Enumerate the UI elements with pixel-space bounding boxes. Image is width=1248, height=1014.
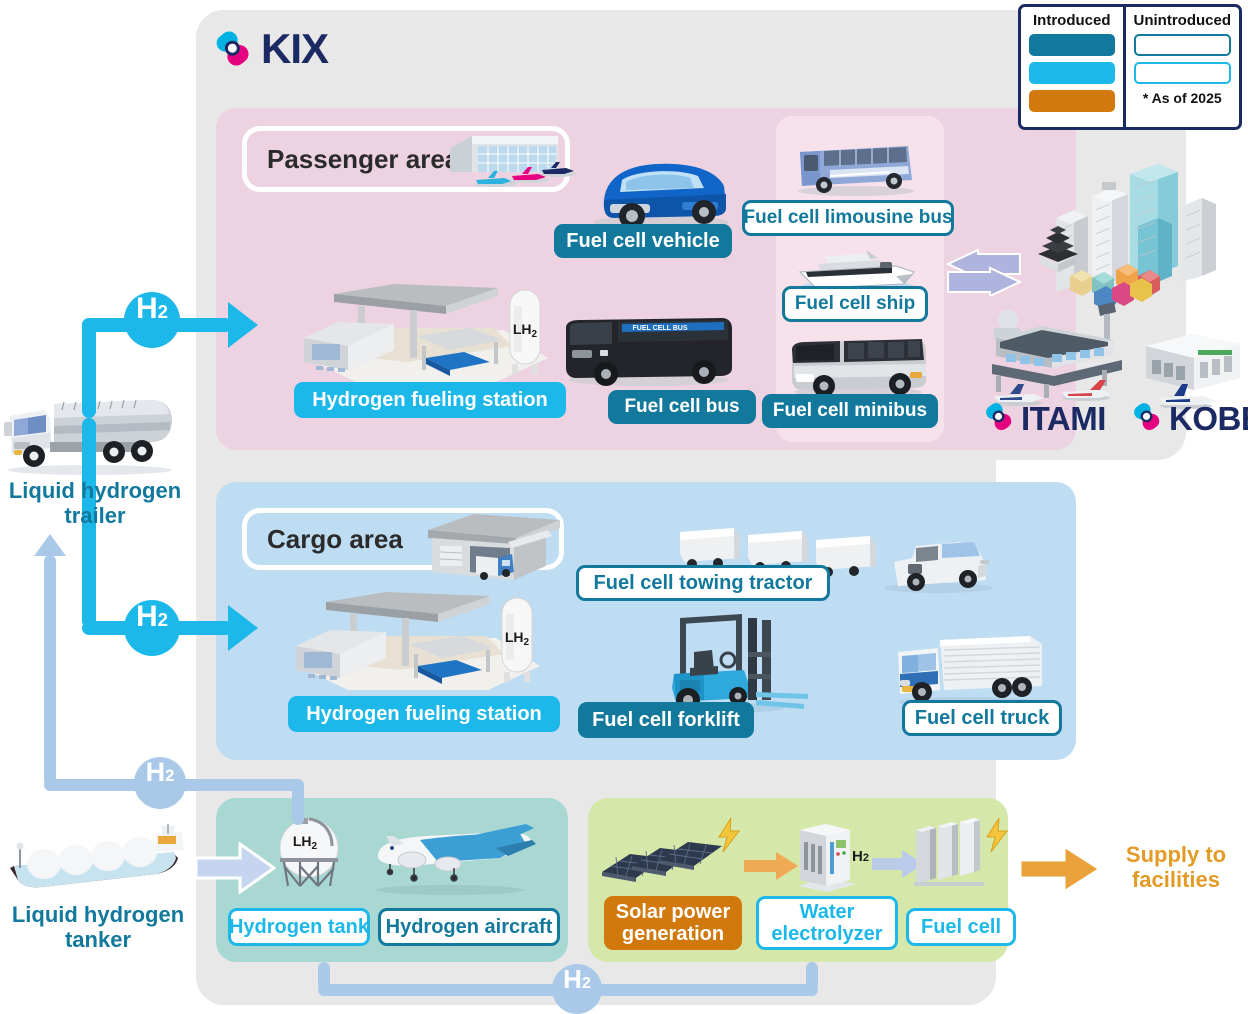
legend-introduced-column: Introduced — [1021, 7, 1126, 127]
label-fuel-cell-ship[interactable]: Fuel cell ship — [782, 286, 928, 322]
h2-badge-aviation: H2 — [134, 757, 186, 809]
label-fuel-cell-bus[interactable]: Fuel cell bus — [608, 390, 756, 424]
kobe-capsule-icon — [1132, 401, 1162, 438]
label-fuel-cell-minibus[interactable]: Fuel cell minibus — [762, 394, 938, 428]
liquid-hydrogen-trailer-line2: trailer — [0, 503, 190, 528]
kix-wordmark: KIX — [261, 28, 328, 70]
label-hydrogen-tank-text: Hydrogen tank — [229, 916, 369, 938]
kix-logo: KIX — [196, 10, 404, 88]
label-hydrogen-fueling-station-passenger-text: Hydrogen fueling station — [312, 389, 548, 411]
label-hydrogen-fueling-station-passenger[interactable]: Hydrogen fueling station — [294, 382, 566, 418]
infographic-root: KIX Introduced Unintroduced * As of 2025… — [0, 0, 1248, 1010]
hydrogen-tank-icon: LH2 — [272, 816, 346, 892]
solar-panel-icon — [600, 840, 730, 892]
kobe-airport-icon — [1140, 326, 1248, 410]
cargo-warehouse-icon — [410, 510, 570, 582]
water-electrolyzer-icon — [790, 820, 860, 892]
fuel-cell-minibus-icon — [784, 330, 930, 400]
tanker-supply-arrow — [196, 840, 276, 896]
kix-to-airports-arrow — [944, 248, 1024, 296]
h2-badge-cargo-sub: 2 — [158, 609, 168, 631]
itami-wordmark: ITAMI — [1021, 400, 1106, 438]
hydrogen-fueling-station-passenger-icon: LH2 — [298, 284, 548, 388]
label-fuel-cell-limousine-bus-text: Fuel cell limousine bus — [743, 208, 952, 229]
liquid-hydrogen-tanker-label: Liquid hydrogen tanker — [0, 902, 196, 953]
liquid-hydrogen-tanker-line1: Liquid hydrogen — [0, 902, 196, 927]
label-fuel-cell-bus-text: Fuel cell bus — [624, 397, 739, 418]
label-fuel-cell-limousine-bus[interactable]: Fuel cell limousine bus — [742, 200, 954, 236]
h2-badge-aviation-text: H — [146, 757, 166, 788]
h2-badge-passenger: H2 — [124, 292, 180, 348]
h2-badge-cargo: H2 — [124, 600, 180, 656]
kix-capsule-icon — [214, 29, 252, 69]
h2-badge-aviation-sub: 2 — [165, 766, 174, 786]
city-skyline-icon — [1026, 158, 1226, 308]
label-water-electrolyzer[interactable]: Water electrolyzer — [756, 896, 898, 950]
supply-to-facilities-arrow — [1020, 842, 1102, 896]
label-fuel-cell-forklift[interactable]: Fuel cell forklift — [578, 702, 754, 738]
h2-badge-bottom-text: H — [563, 964, 582, 995]
label-fuel-cell-vehicle-text: Fuel cell vehicle — [566, 230, 719, 252]
label-fuel-cell-minibus-text: Fuel cell minibus — [773, 401, 927, 422]
label-fuel-cell-text: Fuel cell — [921, 916, 1001, 938]
h2-pipe-riser — [82, 318, 96, 418]
itami-logo: ITAMI — [984, 400, 1106, 438]
cargo-area-label: Cargo area — [267, 524, 403, 555]
label-hydrogen-fueling-station-cargo-text: Hydrogen fueling station — [306, 703, 542, 725]
liquid-hydrogen-trailer-label: Liquid hydrogen trailer — [0, 478, 190, 529]
label-fuel-cell-truck-text: Fuel cell truck — [915, 707, 1050, 729]
h2-badge-cargo-text: H — [136, 600, 158, 634]
itami-airport-icon — [982, 298, 1142, 410]
svg-text:FUEL CELL BUS: FUEL CELL BUS — [633, 325, 688, 332]
h2-badge-bottom: H2 — [552, 964, 602, 1014]
label-solar-power-generation[interactable]: Solar power generation — [604, 896, 742, 950]
legend-introduced-title: Introduced — [1029, 12, 1115, 29]
fuel-cell-vehicle-icon — [586, 154, 736, 230]
label-hydrogen-tank[interactable]: Hydrogen tank — [228, 908, 370, 946]
label-hydrogen-fueling-station-cargo[interactable]: Hydrogen fueling station — [288, 696, 560, 732]
h2-badge-passenger-sub: 2 — [158, 301, 168, 323]
supply-to-facilities-line1: Supply to — [1106, 842, 1246, 867]
label-fuel-cell-ship-text: Fuel cell ship — [795, 294, 915, 315]
itami-capsule-icon — [984, 401, 1014, 438]
label-water-electrolyzer-line1: Water — [800, 901, 855, 923]
legend-swatch-unintroduced-teal — [1134, 34, 1232, 56]
legend-as-of-note: * As of 2025 — [1134, 90, 1232, 106]
liquid-hydrogen-trailer-line1: Liquid hydrogen — [0, 478, 190, 503]
legend-swatch-introduced-orange — [1029, 90, 1115, 112]
legend-swatch-unintroduced-cyan — [1134, 62, 1232, 84]
h2-pipe-aviation-drop — [292, 779, 304, 825]
label-fuel-cell[interactable]: Fuel cell — [906, 908, 1016, 946]
legend-unintroduced-column: Unintroduced * As of 2025 — [1126, 7, 1240, 127]
liquid-hydrogen-tanker-icon — [6, 824, 196, 896]
h2-arrow-label-energy: H2 — [852, 848, 869, 865]
label-hydrogen-aircraft[interactable]: Hydrogen aircraft — [378, 908, 560, 946]
h2-pipe-tanker-riser — [44, 555, 56, 785]
label-solar-power-generation-line2: generation — [622, 923, 724, 945]
passenger-terminal-icon — [432, 130, 582, 192]
h2-badge-passenger-text: H — [136, 292, 158, 326]
fuel-cell-limousine-bus-icon — [790, 136, 920, 198]
label-fuel-cell-vehicle[interactable]: Fuel cell vehicle — [554, 224, 732, 258]
h2-arrow-tanker-up — [34, 534, 66, 556]
supply-to-facilities-line2: facilities — [1106, 867, 1246, 892]
h2-arrow-cargo — [228, 605, 258, 651]
fuel-cell-bus-icon: FUEL CELL BUS — [556, 310, 736, 388]
kobe-wordmark: KOBE — [1169, 400, 1248, 438]
kobe-logo: KOBE — [1132, 400, 1248, 438]
hydrogen-aircraft-icon — [350, 818, 540, 898]
legend-unintroduced-title: Unintroduced — [1134, 12, 1232, 29]
label-fuel-cell-towing-tractor[interactable]: Fuel cell towing tractor — [576, 565, 830, 601]
legend-swatch-introduced-cyan — [1029, 62, 1115, 84]
lightning-bolt-fuelcell-icon — [984, 818, 1010, 852]
h2-badge-bottom-sub: 2 — [582, 974, 591, 993]
fuel-cell-truck-icon — [888, 628, 1046, 710]
fuel-cell-forklift-icon — [660, 608, 810, 716]
label-fuel-cell-towing-tractor-text: Fuel cell towing tractor — [594, 572, 813, 594]
legend-swatch-introduced-teal — [1029, 34, 1115, 56]
supply-to-facilities-text: Supply to facilities — [1106, 842, 1246, 893]
hydrogen-fueling-station-cargo-icon: LH2 — [290, 592, 540, 696]
lightning-bolt-solar-icon — [716, 818, 742, 852]
label-fuel-cell-forklift-text: Fuel cell forklift — [592, 709, 740, 731]
h2-pipe-bottom-right-drop — [806, 962, 818, 990]
passenger-area-label: Passenger area — [267, 144, 459, 175]
fuel-cell-stack-icon — [914, 818, 988, 890]
label-hydrogen-aircraft-text: Hydrogen aircraft — [386, 916, 553, 938]
liquid-hydrogen-tanker-line2: tanker — [0, 927, 196, 952]
label-solar-power-generation-line1: Solar power — [616, 901, 730, 923]
legend-box: Introduced Unintroduced * As of 2025 — [1018, 4, 1242, 130]
h2-arrow-passenger — [228, 302, 258, 348]
label-fuel-cell-truck[interactable]: Fuel cell truck — [902, 700, 1062, 736]
label-water-electrolyzer-line2: electrolyzer — [771, 923, 882, 945]
